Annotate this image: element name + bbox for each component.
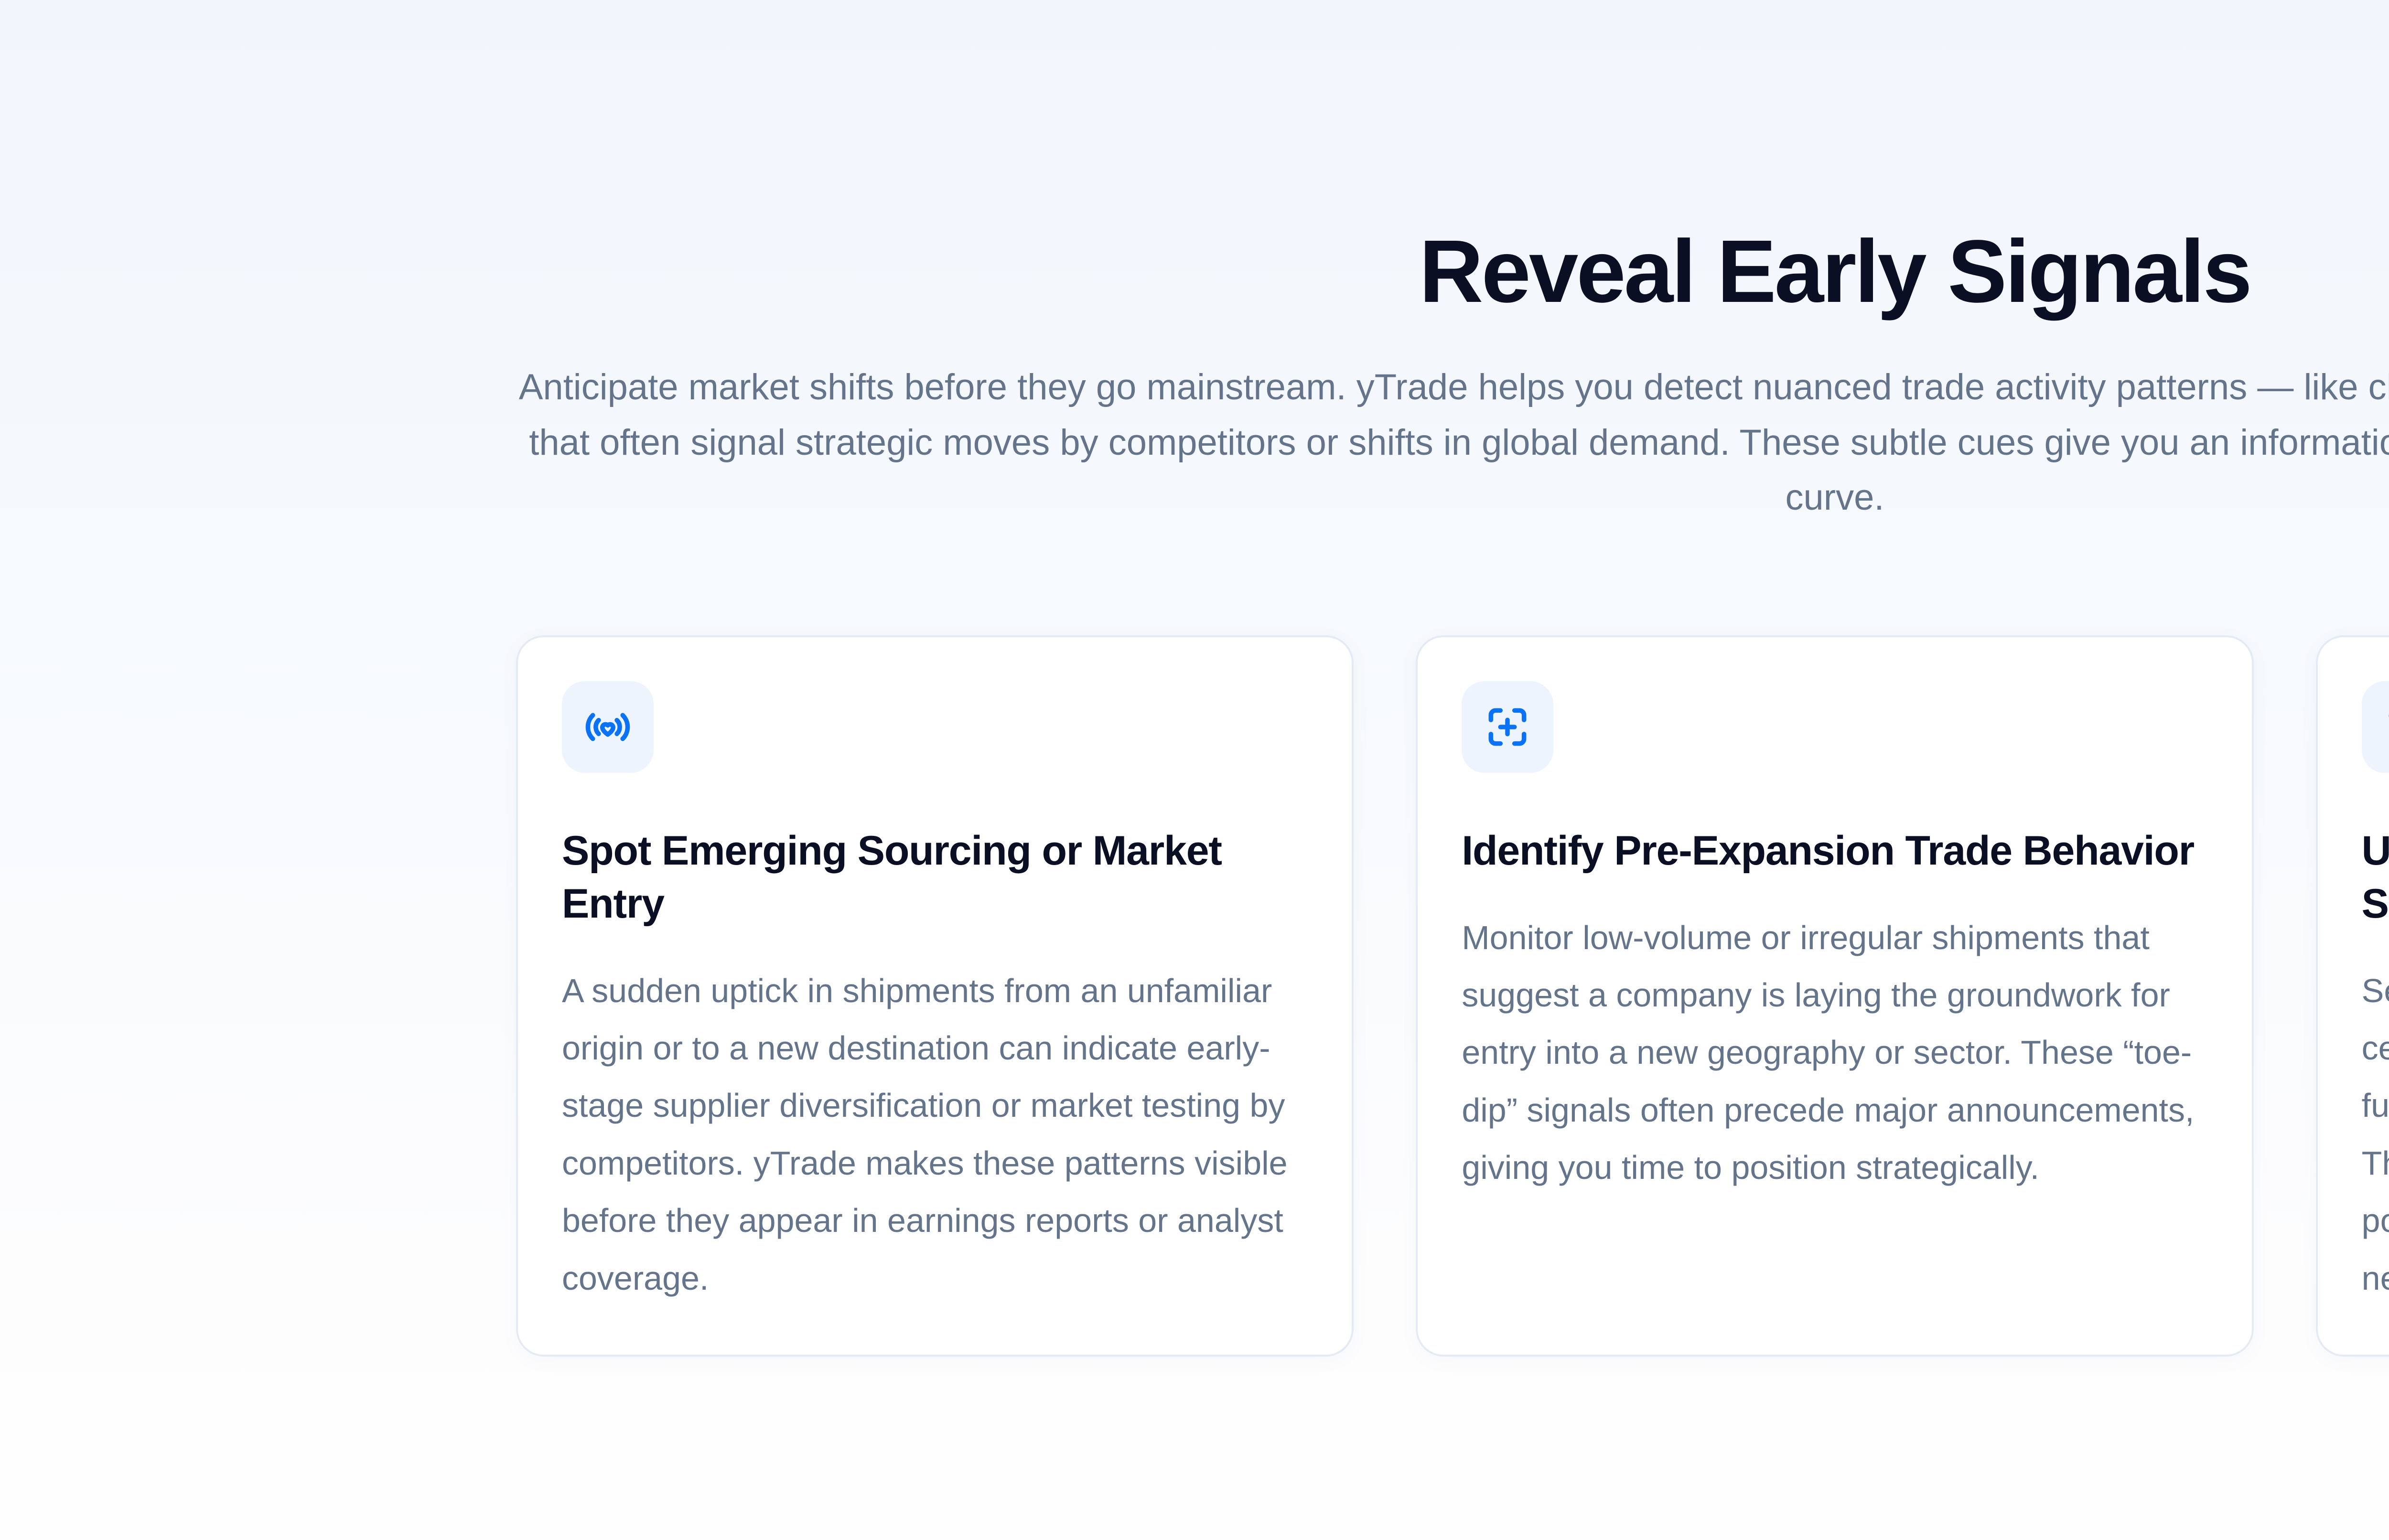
feature-cards-grid: Spot Emerging Sourcing or Market Entry A…: [516, 635, 2389, 1357]
reveal-early-signals-section: Reveal Early Signals Anticipate market s…: [516, 0, 2389, 1357]
section-subtitle: Anticipate market shifts before they go …: [516, 360, 2389, 525]
feature-card-title: Uncover Hidden Shifts in Supply Chain St…: [2362, 824, 2389, 930]
page-root: Reveal Early Signals Anticipate market s…: [0, 0, 2389, 1540]
feature-card[interactable]: Spot Emerging Sourcing or Market Entry A…: [516, 635, 1354, 1357]
winding-route-arrow-icon: [2362, 681, 2389, 773]
feature-card-body: Monitor low-volume or irregular shipment…: [1462, 909, 2207, 1197]
feature-card[interactable]: Uncover Hidden Shifts in Supply Chain St…: [2316, 635, 2389, 1357]
feature-card-body: A sudden uptick in shipments from an unf…: [562, 962, 1308, 1307]
page-title: Reveal Early Signals: [516, 225, 2389, 319]
feature-card-body: See when companies begin to reduce relia…: [2362, 962, 2389, 1307]
feature-card-title: Identify Pre-Expansion Trade Behavior: [1462, 824, 2207, 877]
scan-focus-plus-icon: [1462, 681, 1553, 773]
feature-card-title: Spot Emerging Sourcing or Market Entry: [562, 824, 1308, 930]
feature-card[interactable]: Identify Pre-Expansion Trade Behavior Mo…: [1416, 635, 2253, 1357]
radio-signal-heart-icon: [562, 681, 654, 773]
